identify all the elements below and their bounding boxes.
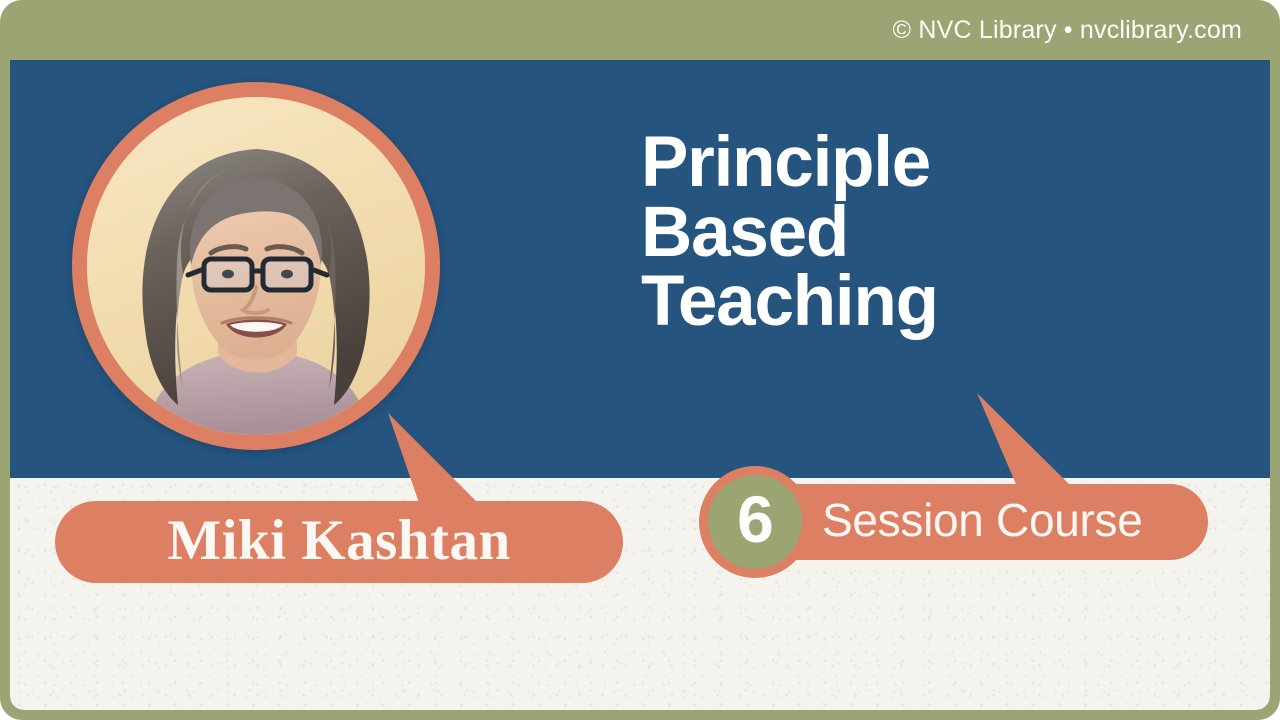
course-title-line-1: Principle [641, 128, 1201, 198]
copyright-bar: © NVC Library • nvclibrary.com [0, 0, 1280, 60]
avatar-photo [87, 97, 425, 435]
course-title-line-3: Teaching [641, 267, 1201, 337]
avatar [72, 82, 440, 450]
course-title: Principle Based Teaching [641, 128, 1201, 337]
course-title-line-2: Based [641, 198, 1201, 268]
session-count-number: 6 [737, 486, 773, 552]
presenter-name: Miki Kashtan [167, 508, 510, 573]
session-count-badge: 6 [699, 466, 811, 578]
session-course-badge: Session Course [750, 484, 1208, 560]
copyright-text: © NVC Library • nvclibrary.com [893, 16, 1242, 45]
session-course-label: Session Course [822, 493, 1143, 547]
presenter-name-badge: Miki Kashtan [55, 501, 623, 583]
portrait-photo-icon [87, 97, 425, 435]
session-count-disc: 6 [708, 475, 802, 569]
promo-card: © NVC Library • nvclibrary.com [0, 0, 1280, 720]
